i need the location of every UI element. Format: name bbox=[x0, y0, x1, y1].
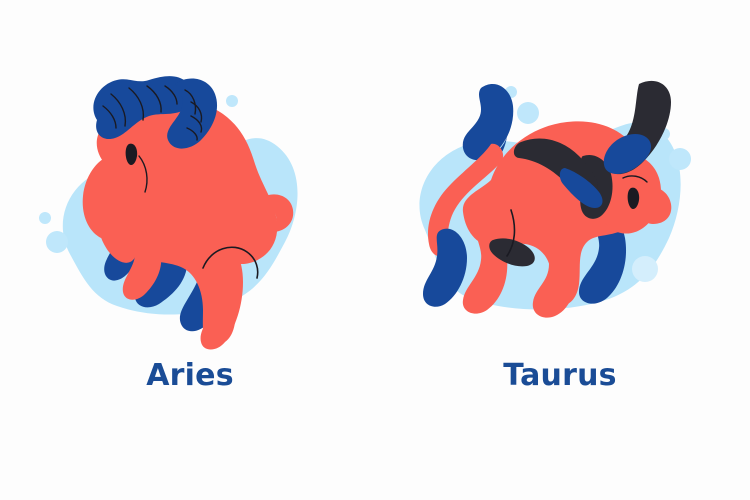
aries-art-stage bbox=[25, 60, 355, 350]
bubble-icon bbox=[226, 95, 238, 107]
bubble-icon bbox=[39, 212, 51, 224]
zodiac-signs-board: Aries bbox=[0, 0, 750, 500]
taurus-bull-illustration bbox=[395, 60, 725, 350]
taurus-art-stage bbox=[395, 60, 725, 350]
sign-label-aries: Aries bbox=[25, 356, 355, 396]
aries-ram-illustration bbox=[25, 60, 355, 350]
zodiac-card-taurus[interactable]: Taurus bbox=[395, 60, 725, 420]
bubble-icon bbox=[46, 231, 68, 253]
bubble-icon bbox=[632, 256, 658, 282]
bubble-icon bbox=[669, 148, 691, 170]
zodiac-card-aries[interactable]: Aries bbox=[25, 60, 355, 420]
bubble-icon bbox=[517, 102, 539, 124]
sign-label-taurus: Taurus bbox=[395, 356, 725, 396]
